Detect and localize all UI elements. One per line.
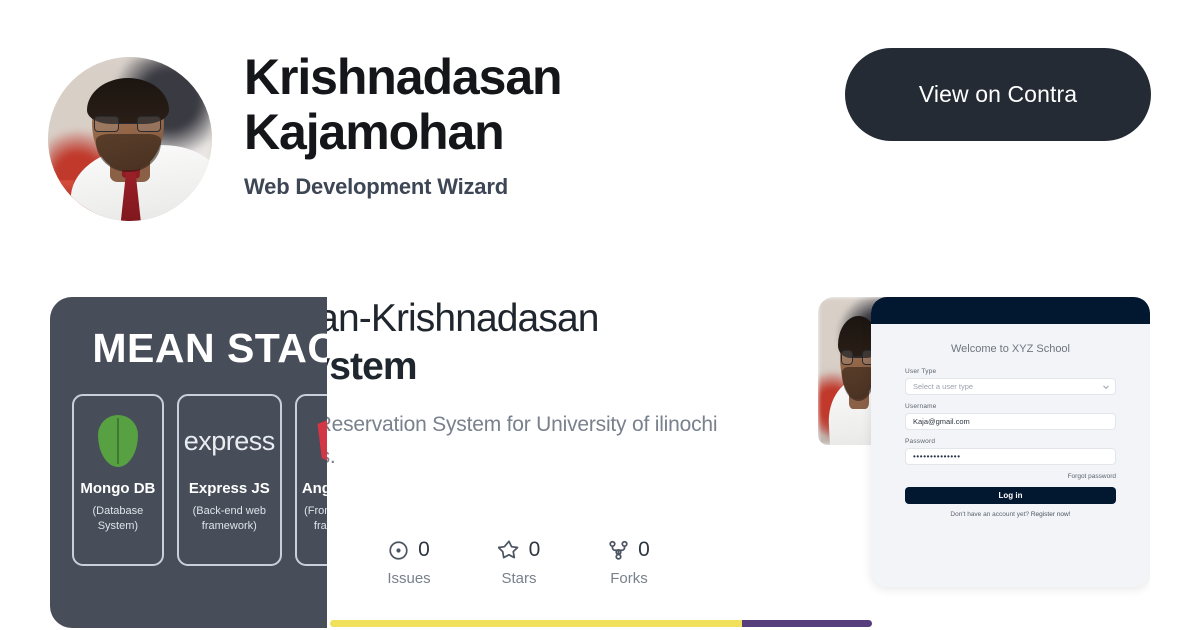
stat-top: 0 <box>608 536 650 564</box>
identity-block: Krishnadasan Kajamohan Web Development W… <box>244 50 824 200</box>
username-input[interactable]: Kaja@gmail.com <box>905 413 1116 430</box>
stat-top: 0 <box>498 536 541 564</box>
stat-top: 0 <box>388 536 430 564</box>
glasses-bridge <box>119 123 137 125</box>
project-thumbnail-login-screen[interactable]: Welcome to XYZ School User Type Select a… <box>818 297 1150 628</box>
mongodb-leaf-icon <box>98 408 138 474</box>
avatar <box>48 57 212 221</box>
express-wordmark-icon: express <box>184 408 275 474</box>
stat-label: Forks <box>610 570 648 587</box>
password-input[interactable]: •••••••••••••• <box>905 448 1116 465</box>
chevron-down-icon <box>1103 383 1109 389</box>
password-value: •••••••••••••• <box>913 452 961 461</box>
mean-item-name: Express JS <box>189 480 270 497</box>
password-label: Password <box>905 438 1116 445</box>
page-title: Krishnadasan Kajamohan <box>244 50 824 160</box>
mean-stack-items: Mongo DB (Database System) express Expre… <box>68 394 327 566</box>
star-icon <box>498 539 520 561</box>
mean-item-angular: A Angular JS (Front-end web framework) <box>295 394 327 566</box>
mean-item-express: express Express JS (Back-end web framewo… <box>177 394 282 566</box>
username-value: Kaja@gmail.com <box>913 417 970 426</box>
glasses-icon <box>94 116 119 132</box>
language-bar <box>330 620 872 627</box>
login-window: Welcome to XYZ School User Type Select a… <box>871 297 1150 587</box>
contra-profile-card: Krishnadasan Kajamohan Web Development W… <box>0 0 1200 630</box>
language-segment-javascript <box>330 620 742 627</box>
user-type-label: User Type <box>905 368 1116 375</box>
avatar-photo <box>48 57 212 221</box>
login-heading: Welcome to XYZ School <box>905 343 1116 355</box>
user-type-value: Select a user type <box>913 382 973 391</box>
login-form: Welcome to XYZ School User Type Select a… <box>871 324 1150 518</box>
profile-header: Krishnadasan Kajamohan Web Development W… <box>0 0 1200 250</box>
mean-item-mongodb: Mongo DB (Database System) <box>72 394 164 566</box>
mean-item-name: Mongo DB <box>80 480 155 497</box>
login-footer: Don't have an account yet? Register now! <box>905 511 1116 518</box>
glasses-icon <box>137 116 162 132</box>
user-type-select[interactable]: Select a user type <box>905 378 1116 395</box>
login-submit-button[interactable]: Log in <box>905 487 1116 504</box>
mean-stack-title: MEAN STACK <box>68 325 327 372</box>
project-section: mohan-Krishnadasan R-System acilities Re… <box>0 250 1200 630</box>
glasses-icon <box>841 350 853 365</box>
project-thumbnail-mean-stack[interactable]: MEAN STACK Mongo DB (Database System) ex… <box>50 297 327 628</box>
mean-stack-card: MEAN STACK Mongo DB (Database System) ex… <box>50 297 327 628</box>
stat-value: 0 <box>529 538 541 562</box>
stat-issues: 0 Issues <box>354 536 464 587</box>
glasses-bridge <box>853 356 862 358</box>
stat-label: Issues <box>387 570 430 587</box>
register-prompt: Don't have an account yet? <box>950 511 1029 518</box>
stat-value: 0 <box>638 538 650 562</box>
login-topbar <box>871 297 1150 324</box>
mean-item-name: Angular JS <box>302 480 327 497</box>
username-label: Username <box>905 403 1116 410</box>
profile-tagline: Web Development Wizard <box>244 174 824 200</box>
forgot-password-link[interactable]: Forgot password <box>905 473 1116 480</box>
register-link[interactable]: Register now! <box>1031 511 1071 518</box>
fork-icon <box>608 540 629 561</box>
mean-item-sub: (Front-end web framework) <box>302 504 327 534</box>
stat-value: 0 <box>418 538 430 562</box>
mean-item-sub: (Database System) <box>79 504 157 534</box>
stat-label: Stars <box>501 570 536 587</box>
angular-shield-icon: A <box>317 408 327 474</box>
view-on-contra-button[interactable]: View on Contra <box>845 48 1151 141</box>
issue-icon <box>388 540 409 561</box>
stat-stars: 0 Stars <box>464 536 574 587</box>
mean-item-sub: (Back-end web framework) <box>184 504 275 534</box>
stat-forks: 0 Forks <box>574 536 684 587</box>
